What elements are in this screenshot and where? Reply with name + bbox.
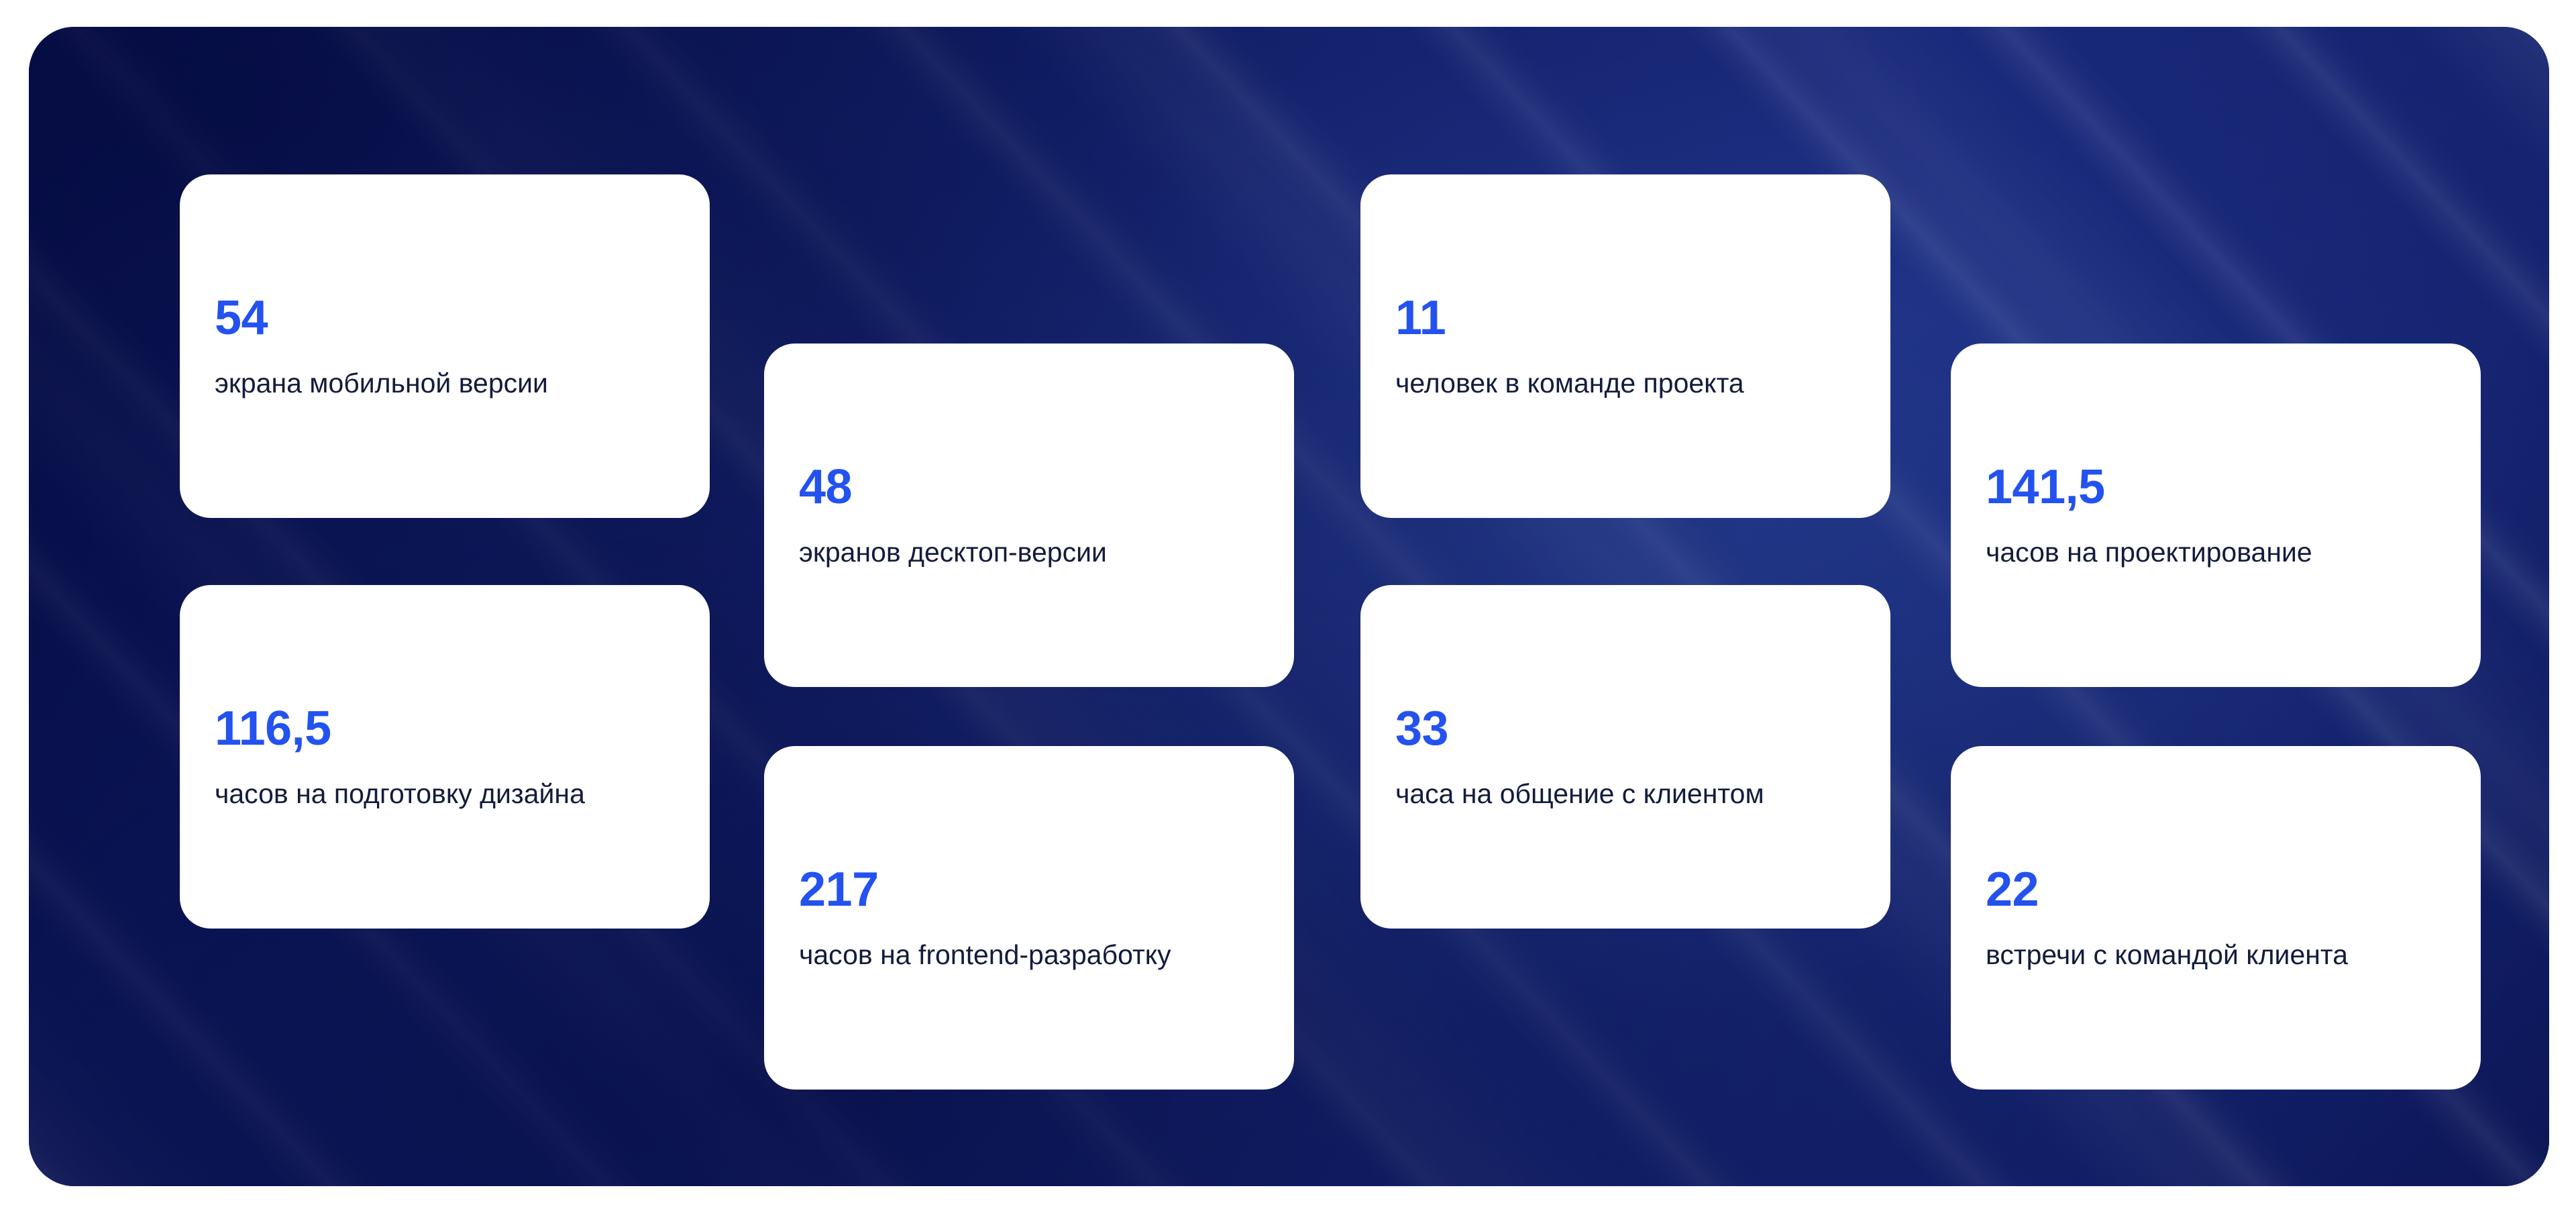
stat-card-client-meetings: 22 встречи с командой клиента — [1951, 746, 2481, 1090]
stat-card-client-talk: 33 часа на общение с клиентом — [1360, 585, 1890, 929]
stat-value: 116,5 — [215, 704, 675, 753]
stat-label: часов на подготовку дизайна — [215, 776, 675, 812]
stat-value: 11 — [1395, 294, 1856, 342]
stat-card-frontend-hours: 217 часов на frontend-разработку — [764, 746, 1294, 1090]
stat-value: 217 — [799, 865, 1259, 914]
stat-value: 54 — [215, 294, 675, 342]
stat-label: встречи с командой клиента — [1986, 937, 2446, 973]
stat-card-team-people: 11 человек в команде проекта — [1360, 174, 1890, 518]
stat-label: экрана мобильной версии — [215, 365, 675, 402]
stat-card-design-hours: 116,5 часов на подготовку дизайна — [180, 585, 710, 929]
stat-card-design-plan: 141,5 часов на проектирование — [1951, 344, 2481, 687]
stat-label: часа на общение с клиентом — [1395, 776, 1856, 812]
stat-value: 48 — [799, 463, 1259, 511]
stat-label: часов на frontend-разработку — [799, 937, 1259, 973]
stat-value: 33 — [1395, 704, 1856, 753]
stat-label: часов на проектирование — [1986, 534, 2446, 571]
stat-label: экранов десктоп-версии — [799, 534, 1259, 571]
stat-value: 141,5 — [1986, 463, 2446, 511]
stat-card-mobile-screens: 54 экрана мобильной версии — [180, 174, 710, 518]
stat-label: человек в команде проекта — [1395, 365, 1856, 402]
stats-panel: 54 экрана мобильной версии 116,5 часов н… — [29, 27, 2549, 1186]
stat-value: 22 — [1986, 865, 2446, 914]
stat-card-desktop-screens: 48 экранов десктоп-версии — [764, 344, 1294, 687]
